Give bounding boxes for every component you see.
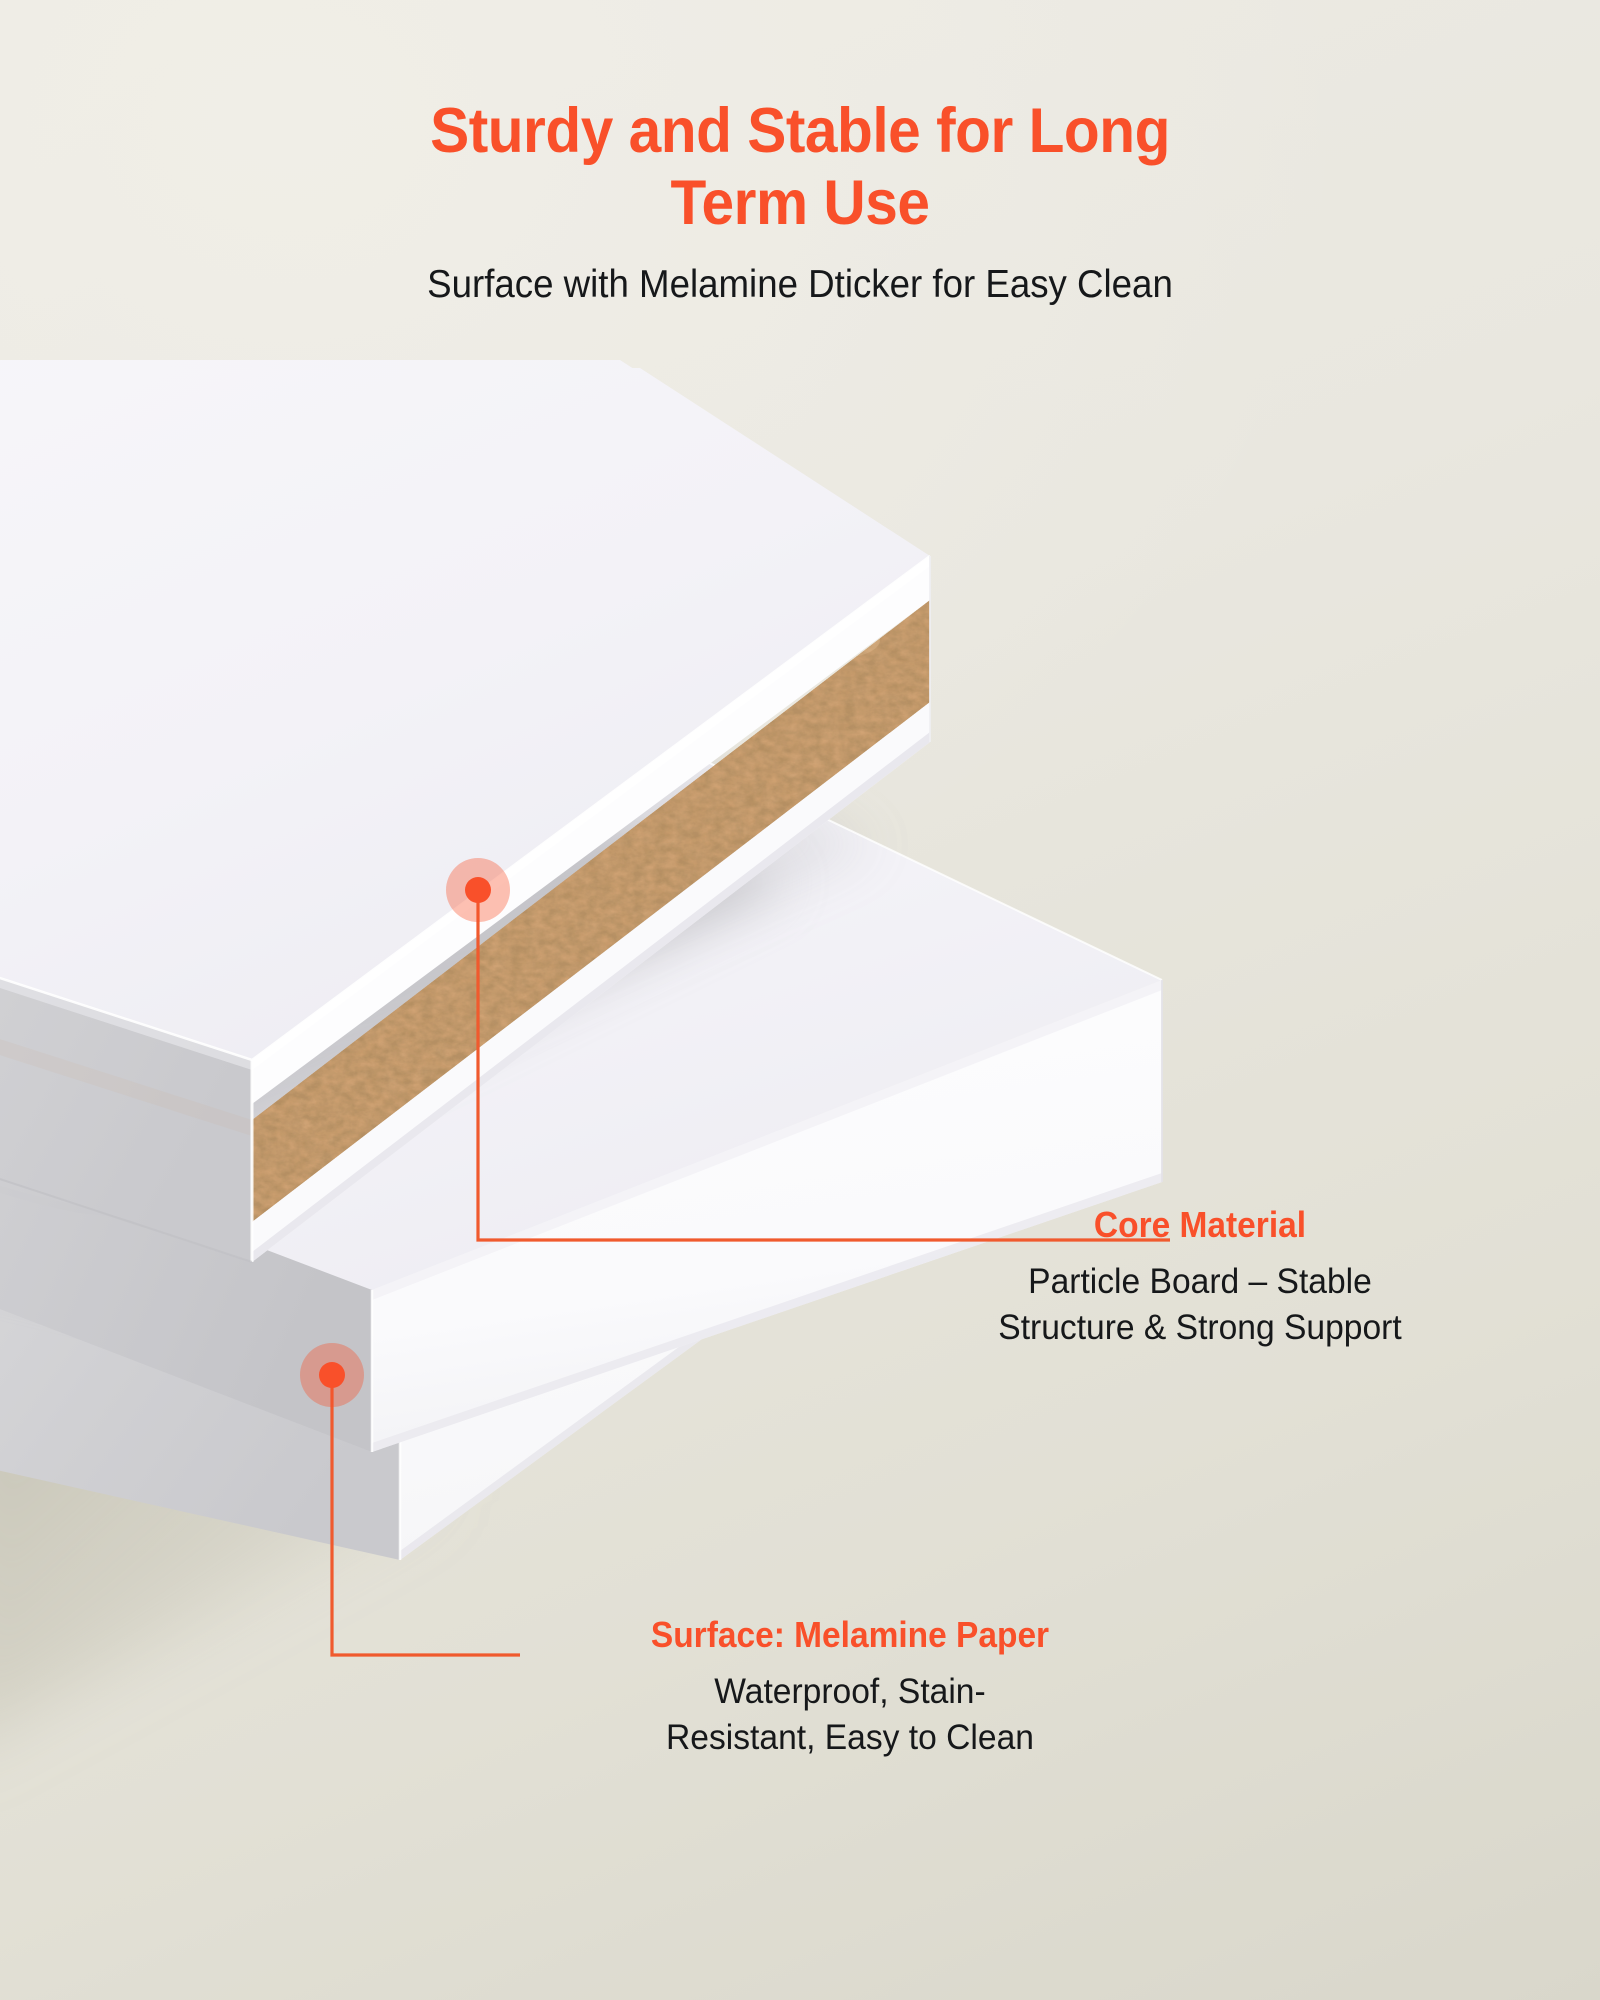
callout-core-material-description-line-2: Structure & Strong Support — [998, 1308, 1401, 1347]
page-title: Sturdy and Stable for Long Term Use — [56, 0, 1544, 240]
page-title-line-2: Term Use — [671, 168, 930, 238]
surface-melamine-dot-core — [319, 1362, 345, 1388]
callout-core-material-label: Core Material — [921, 1205, 1479, 1245]
callout-surface-melamine-label: Surface: Melamine Paper — [543, 1615, 1157, 1655]
callout-surface-melamine: Surface: Melamine Paper Waterproof, Stai… — [520, 1615, 1180, 1762]
header: Sturdy and Stable for Long Term Use Surf… — [0, 0, 1600, 308]
page-subtitle: Surface with Melamine Dticker for Easy C… — [48, 240, 1552, 309]
callout-core-material-description-line-1: Particle Board – Stable — [1028, 1262, 1372, 1301]
callout-core-material: Core Material Particle Board – Stable St… — [900, 1205, 1500, 1352]
infographic-canvas: Sturdy and Stable for Long Term Use Surf… — [0, 0, 1600, 2000]
page-title-line-1: Sturdy and Stable for Long — [430, 96, 1170, 166]
callout-surface-melamine-description: Waterproof, Stain- Resistant, Easy to Cl… — [533, 1669, 1167, 1762]
core-material-dot-core — [465, 877, 491, 903]
callout-surface-melamine-description-line-1: Waterproof, Stain- — [714, 1672, 985, 1711]
callout-surface-melamine-description-line-2: Resistant, Easy to Clean — [666, 1718, 1034, 1757]
callout-core-material-description: Particle Board – Stable Structure & Stro… — [912, 1259, 1488, 1352]
